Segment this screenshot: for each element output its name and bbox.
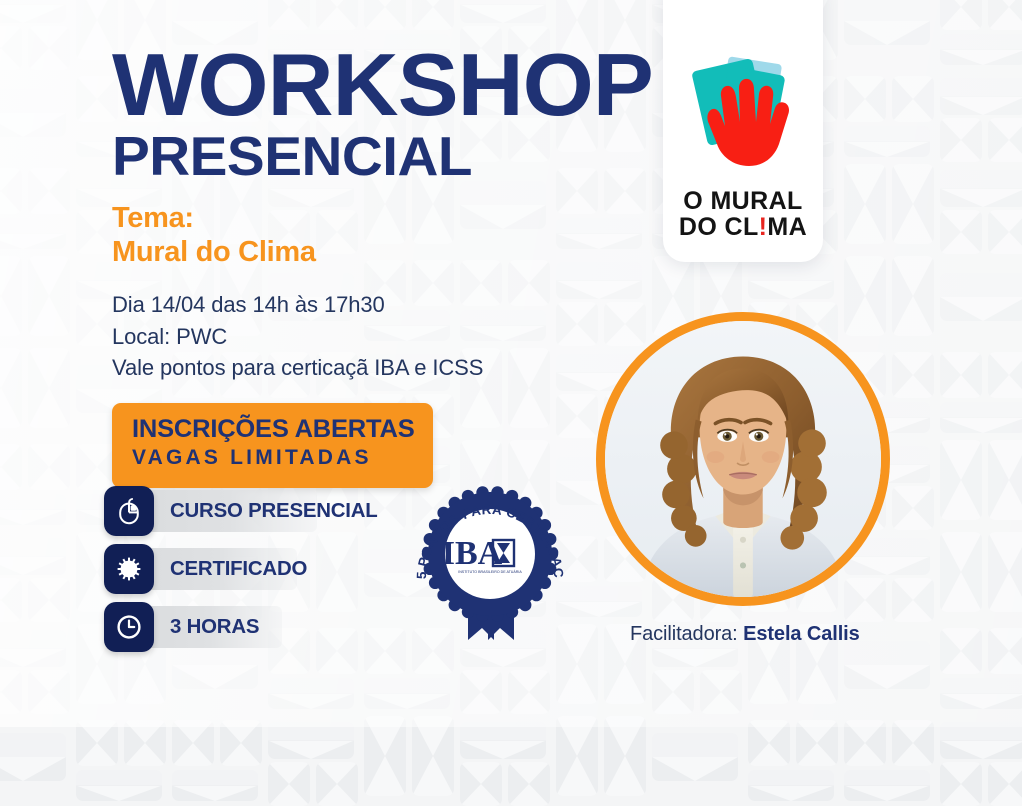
clock-icon — [104, 602, 154, 652]
left-content-column: WORKSHOP PRESENCIAL Tema: Mural do Clima… — [112, 44, 582, 488]
info-line-certification: Vale pontos para certicaçã IBA e ICSS — [112, 352, 582, 383]
logo-line-2-before: DO CL — [679, 213, 759, 241]
facilitator-avatar — [596, 312, 890, 606]
theme-label: Tema: — [112, 202, 582, 236]
theme-value: Mural do Clima — [112, 236, 582, 270]
cta-subtitle: VAGAS LIMITADAS — [132, 444, 409, 472]
logo-line-2: DO CL!MA — [679, 214, 807, 240]
iba-certification-seal: VALE 15 PONTOS PARA CERTIFICAÇÃO IBA IBA… — [398, 462, 582, 652]
mouse-icon — [104, 486, 154, 536]
badge-label: CURSO PRESENCIAL — [170, 500, 378, 523]
list-item: 3 HORAS — [104, 602, 374, 652]
brand-logo-card: O MURAL DO CL!MA — [663, 0, 823, 262]
portrait-illustration — [605, 321, 881, 597]
registration-cta-button[interactable]: INSCRIÇÕES ABERTAS VAGAS LIMITADAS — [112, 403, 433, 488]
feature-badge-list: CURSO PRESENCIAL — [104, 486, 374, 660]
cta-title: INSCRIÇÕES ABERTAS — [132, 416, 415, 442]
logo-line-2-after: MA — [767, 213, 807, 241]
brand-logo-text: O MURAL DO CL!MA — [679, 188, 807, 240]
logo-line-1: O MURAL — [679, 188, 807, 214]
facilitator-label: Facilitadora: — [630, 623, 738, 645]
info-line-location: Local: PWC — [112, 321, 582, 352]
event-info-block: Dia 14/04 das 14h às 17h30 Local: PWC Va… — [112, 289, 582, 383]
facilitator-credit: Facilitadora: Estela Callis — [630, 623, 860, 646]
badge-label: 3 HORAS — [170, 616, 259, 639]
hand-over-cards-icon — [679, 52, 807, 180]
badge-label: CERTIFICADO — [170, 558, 307, 581]
page-title: WORKSHOP — [112, 44, 601, 126]
list-item: CERTIFICADO — [104, 544, 374, 594]
info-line-date: Dia 14/04 das 14h às 17h30 — [112, 289, 582, 320]
seal-center-subtext: INSTITUTO BRASILEIRO DE ATUÁRIA — [458, 570, 522, 574]
facilitator-name: Estela Callis — [743, 623, 860, 645]
theme-block: Tema: Mural do Clima — [112, 202, 582, 270]
list-item: CURSO PRESENCIAL — [104, 486, 374, 536]
page-subtitle: PRESENCIAL — [112, 128, 596, 186]
certificate-seal-icon — [104, 544, 154, 594]
